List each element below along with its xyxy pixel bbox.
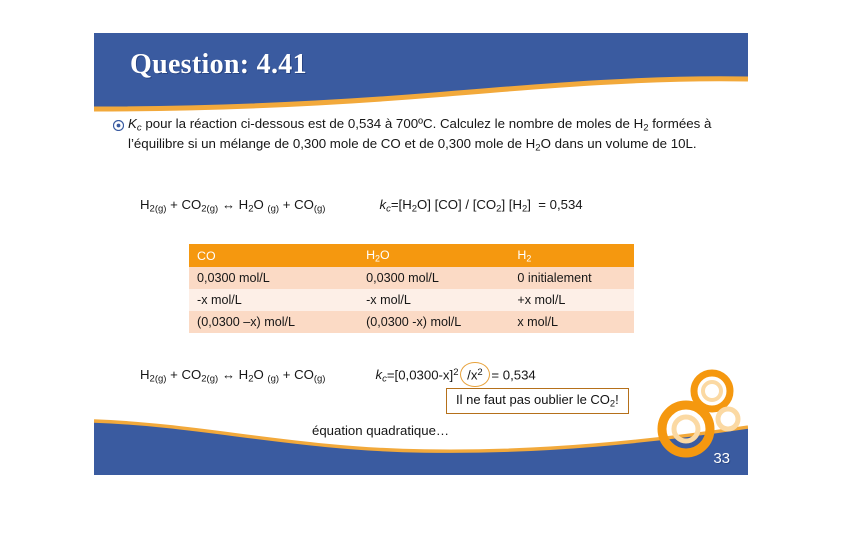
kc-value-2: 0,534: [503, 367, 536, 382]
kc-symbol: K: [128, 116, 137, 131]
table-cell: -x mol/L: [358, 289, 509, 311]
question-statement-text: Kc pour la réaction ci-dessous est de 0,…: [128, 115, 740, 156]
table-header-h2: H2: [509, 244, 634, 267]
table-cell: (0,0300 –x) mol/L: [189, 311, 358, 333]
kc-value-1: 0,534: [550, 197, 583, 212]
table-row: -x mol/L -x mol/L +x mol/L: [189, 289, 634, 311]
table-header-h2o: H2O: [358, 244, 509, 267]
quadratic-note: équation quadratique…: [312, 423, 449, 438]
target-bullet-icon: [110, 120, 126, 131]
question-statement: Kc pour la réaction ci-dessous est de 0,…: [110, 115, 740, 156]
table-row: (0,0300 –x) mol/L (0,0300 -x) mol/L x mo…: [189, 311, 634, 333]
callout-text: Il ne faut pas oublier le CO: [456, 392, 610, 407]
slide-header-banner: Question: 4.41: [94, 33, 748, 119]
table-cell: +x mol/L: [509, 289, 634, 311]
table-cell: 0,0300 mol/L: [189, 267, 358, 289]
kc-expression-1: kc=[H2O] [CO] / [CO2] [H2] = 0,534: [379, 197, 582, 215]
table-header-row: CO H2O H2: [189, 244, 634, 267]
slide-footer-banner: 33: [94, 405, 748, 475]
table-row: 0,0300 mol/L 0,0300 mol/L 0 initialement: [189, 267, 634, 289]
table-cell: 0 initialement: [509, 267, 634, 289]
equation-row-1: H2(g) + CO2(g) ↔ H2O (g) + CO(g)kc=[H2O]…: [140, 197, 583, 215]
ice-table: CO H2O H2 0,0300 mol/L 0,0300 mol/L 0 in…: [189, 244, 634, 333]
kc-expression-2: kc=[0,0300-x]2 /x2 = 0,534: [375, 367, 535, 385]
reaction-equation-2: H2(g) + CO2(g) ↔ H2O (g) + CO(g): [140, 367, 325, 385]
table-cell: (0,0300 -x) mol/L: [358, 311, 509, 333]
statement-part-4: O dans un volume de 10L.: [541, 136, 697, 151]
callout-text-suffix: !: [615, 392, 619, 407]
equation-row-2: H2(g) + CO2(g) ↔ H2O (g) + CO(g)kc=[0,03…: [140, 367, 536, 385]
ring-medium-icon: [694, 373, 730, 409]
reaction-equation-1: H2(g) + CO2(g) ↔ H2O (g) + CO(g): [140, 197, 325, 215]
slide-canvas: Question: 4.41 Kc pour la réaction ci-de…: [94, 33, 748, 475]
callout-box: Il ne faut pas oublier le CO2!: [446, 388, 629, 414]
table-cell: 0,0300 mol/L: [358, 267, 509, 289]
statement-part-2: pour la réaction ci-dessous est de 0,534…: [142, 116, 644, 131]
table-cell: -x mol/L: [189, 289, 358, 311]
page-title: Question: 4.41: [130, 49, 307, 81]
table-header-co: CO: [189, 244, 358, 267]
table-cell: x mol/L: [509, 311, 634, 333]
circled-x-squared-term: /x2: [462, 367, 488, 382]
page-number: 33: [713, 450, 730, 467]
